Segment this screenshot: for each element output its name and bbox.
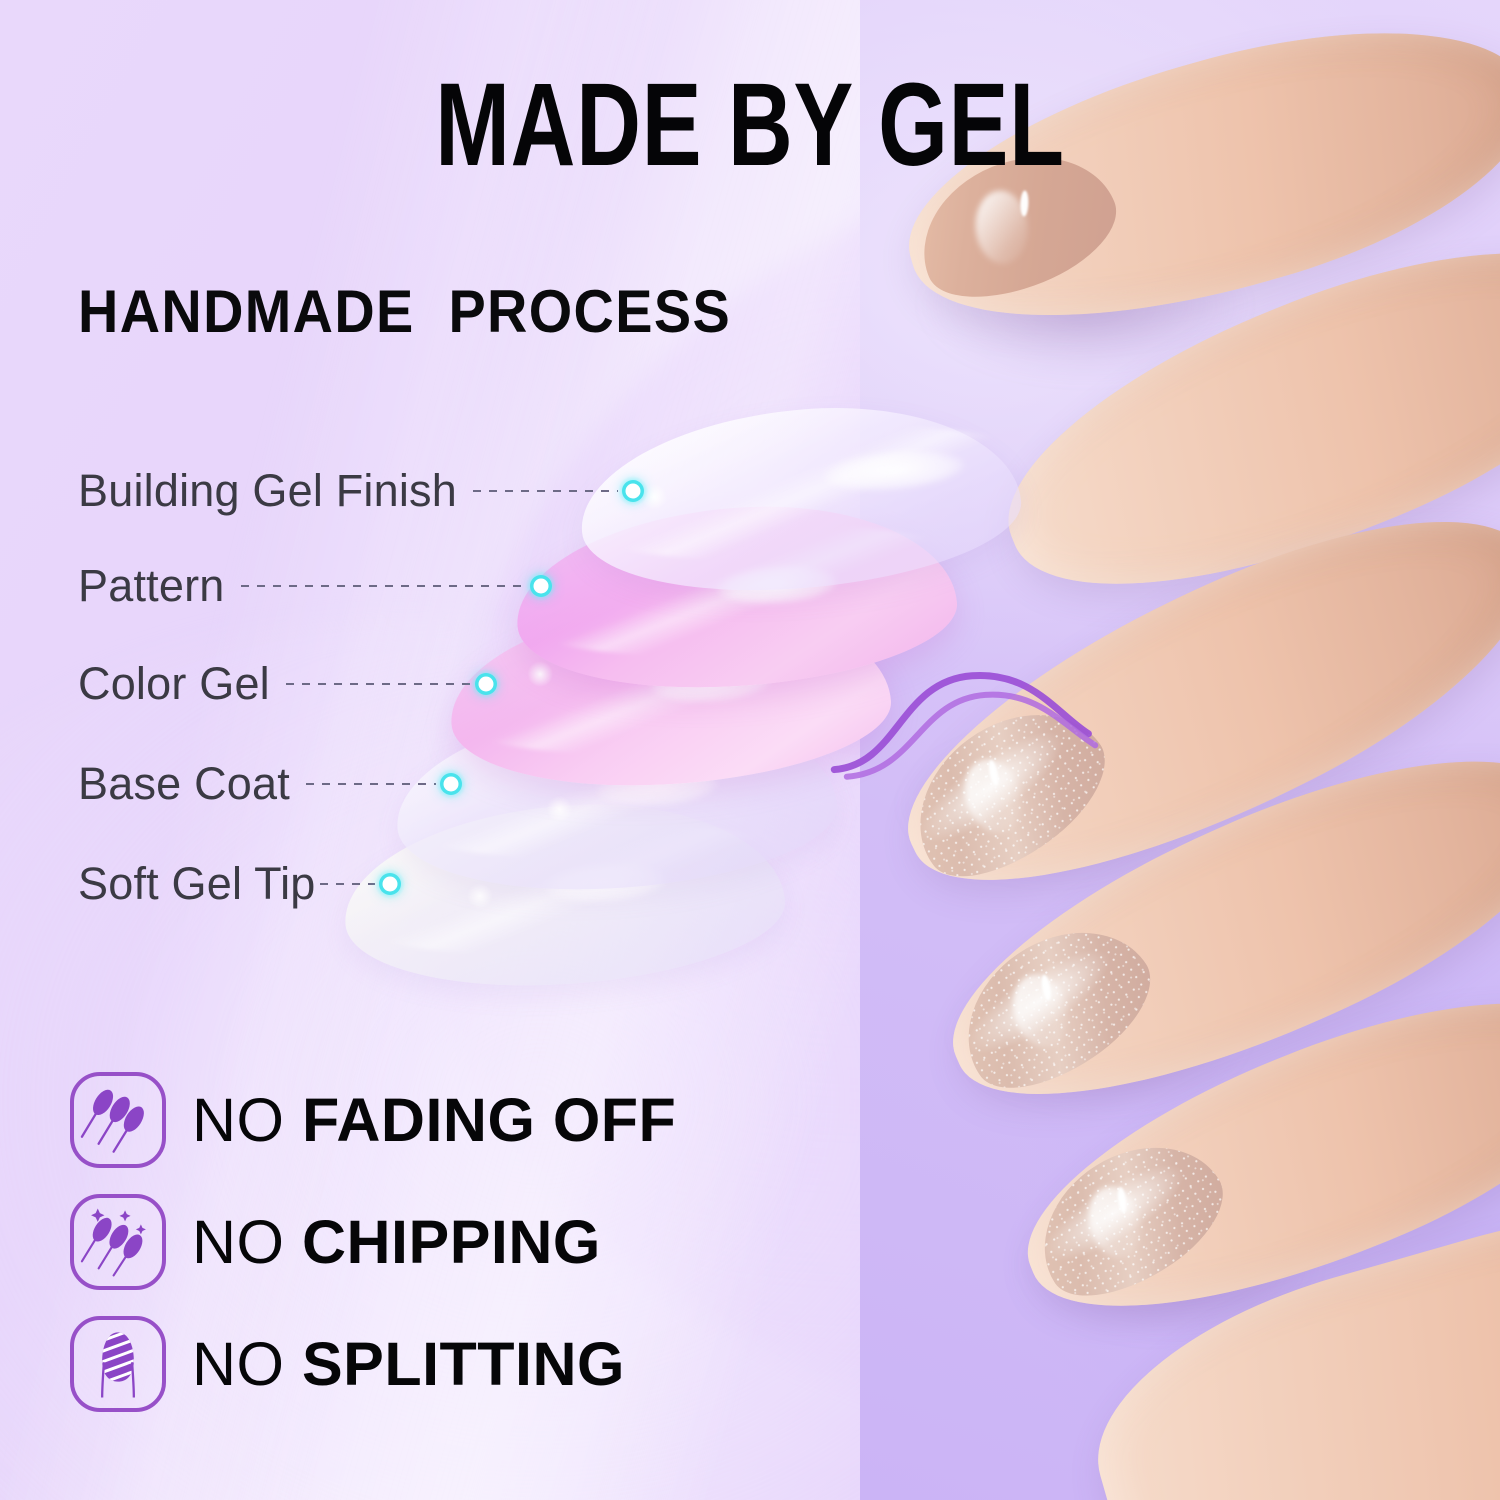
feature-no-splitting: NO SPLITTING [70, 1312, 676, 1416]
feature-lead: NO [192, 1330, 302, 1398]
feature-lead: NO [192, 1086, 302, 1154]
feature-no-fading-off: NO FADING OFF [70, 1068, 676, 1172]
leader-line [473, 490, 618, 492]
nail-shine [1082, 1181, 1148, 1263]
feature-label: NO CHIPPING [192, 1212, 601, 1273]
callout-base-coat: Base Coat [78, 755, 464, 813]
callout-label: Building Gel Finish [78, 465, 457, 517]
leader-line [241, 585, 526, 587]
callout-label: Base Coat [78, 758, 290, 810]
section-heading: HANDMADE PROCESS [78, 282, 731, 342]
feature-emphasis: SPLITTING [302, 1330, 625, 1398]
leader-line [286, 683, 471, 685]
callout-label: Soft Gel Tip [78, 858, 316, 910]
leader-line [306, 783, 436, 785]
page-title: MADE BY GEL [180, 66, 1320, 184]
three-nails-icon [70, 1072, 166, 1168]
feature-label: NO SPLITTING [192, 1334, 625, 1395]
nail-glint [1116, 1186, 1128, 1213]
callout-building-gel-finish: Building Gel Finish [78, 462, 646, 520]
feature-list: NO FADING OFF [70, 1068, 676, 1434]
marker-dot-icon [620, 478, 646, 504]
leader-line [320, 883, 375, 885]
feature-lead: NO [192, 1208, 302, 1276]
nail-glint [1020, 190, 1029, 216]
feature-no-chipping: NO CHIPPING [70, 1190, 676, 1294]
callout-label: Pattern [78, 560, 225, 612]
marker-dot-icon [528, 573, 554, 599]
feature-emphasis: FADING OFF [302, 1086, 676, 1154]
striped-nail-icon [70, 1316, 166, 1412]
callout-label: Color Gel [78, 658, 270, 710]
feature-label: NO FADING OFF [192, 1090, 676, 1151]
callout-color-gel: Color Gel [78, 655, 499, 713]
marker-dot-icon [438, 771, 464, 797]
nails-sparkle-icon [70, 1194, 166, 1290]
marker-dot-icon [473, 671, 499, 697]
marker-dot-icon [377, 871, 403, 897]
callout-pattern: Pattern [78, 557, 554, 615]
product-infographic: MADE BY GEL HANDMADE PROCESS [0, 0, 1500, 1500]
callout-soft-gel-tip: Soft Gel Tip [78, 855, 403, 913]
feature-emphasis: CHIPPING [302, 1208, 601, 1276]
